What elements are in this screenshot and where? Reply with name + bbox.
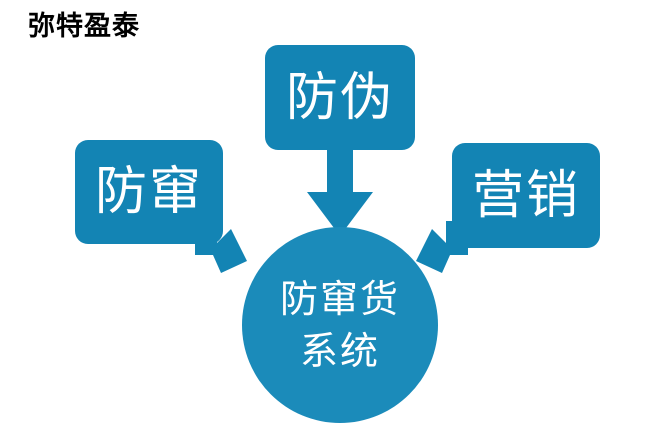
node-box-right-label: 营销: [472, 168, 580, 224]
node-box-right[interactable]: 营销: [452, 143, 600, 248]
page-title: 弥特盈泰: [28, 10, 140, 44]
node-box-left-label: 防窜: [95, 164, 203, 220]
node-box-top[interactable]: 防伪: [265, 45, 415, 150]
node-box-top-label: 防伪: [286, 70, 394, 126]
center-node-label-line1: 防窜货: [280, 273, 400, 325]
diagram-canvas: 弥特盈泰 防窜 防伪 营销 防窜货 系统: [0, 0, 667, 448]
center-node-label-line2: 系统: [300, 325, 380, 377]
center-node-circle[interactable]: 防窜货 系统: [242, 227, 438, 423]
arrow-top-to-center-icon: [305, 148, 375, 238]
